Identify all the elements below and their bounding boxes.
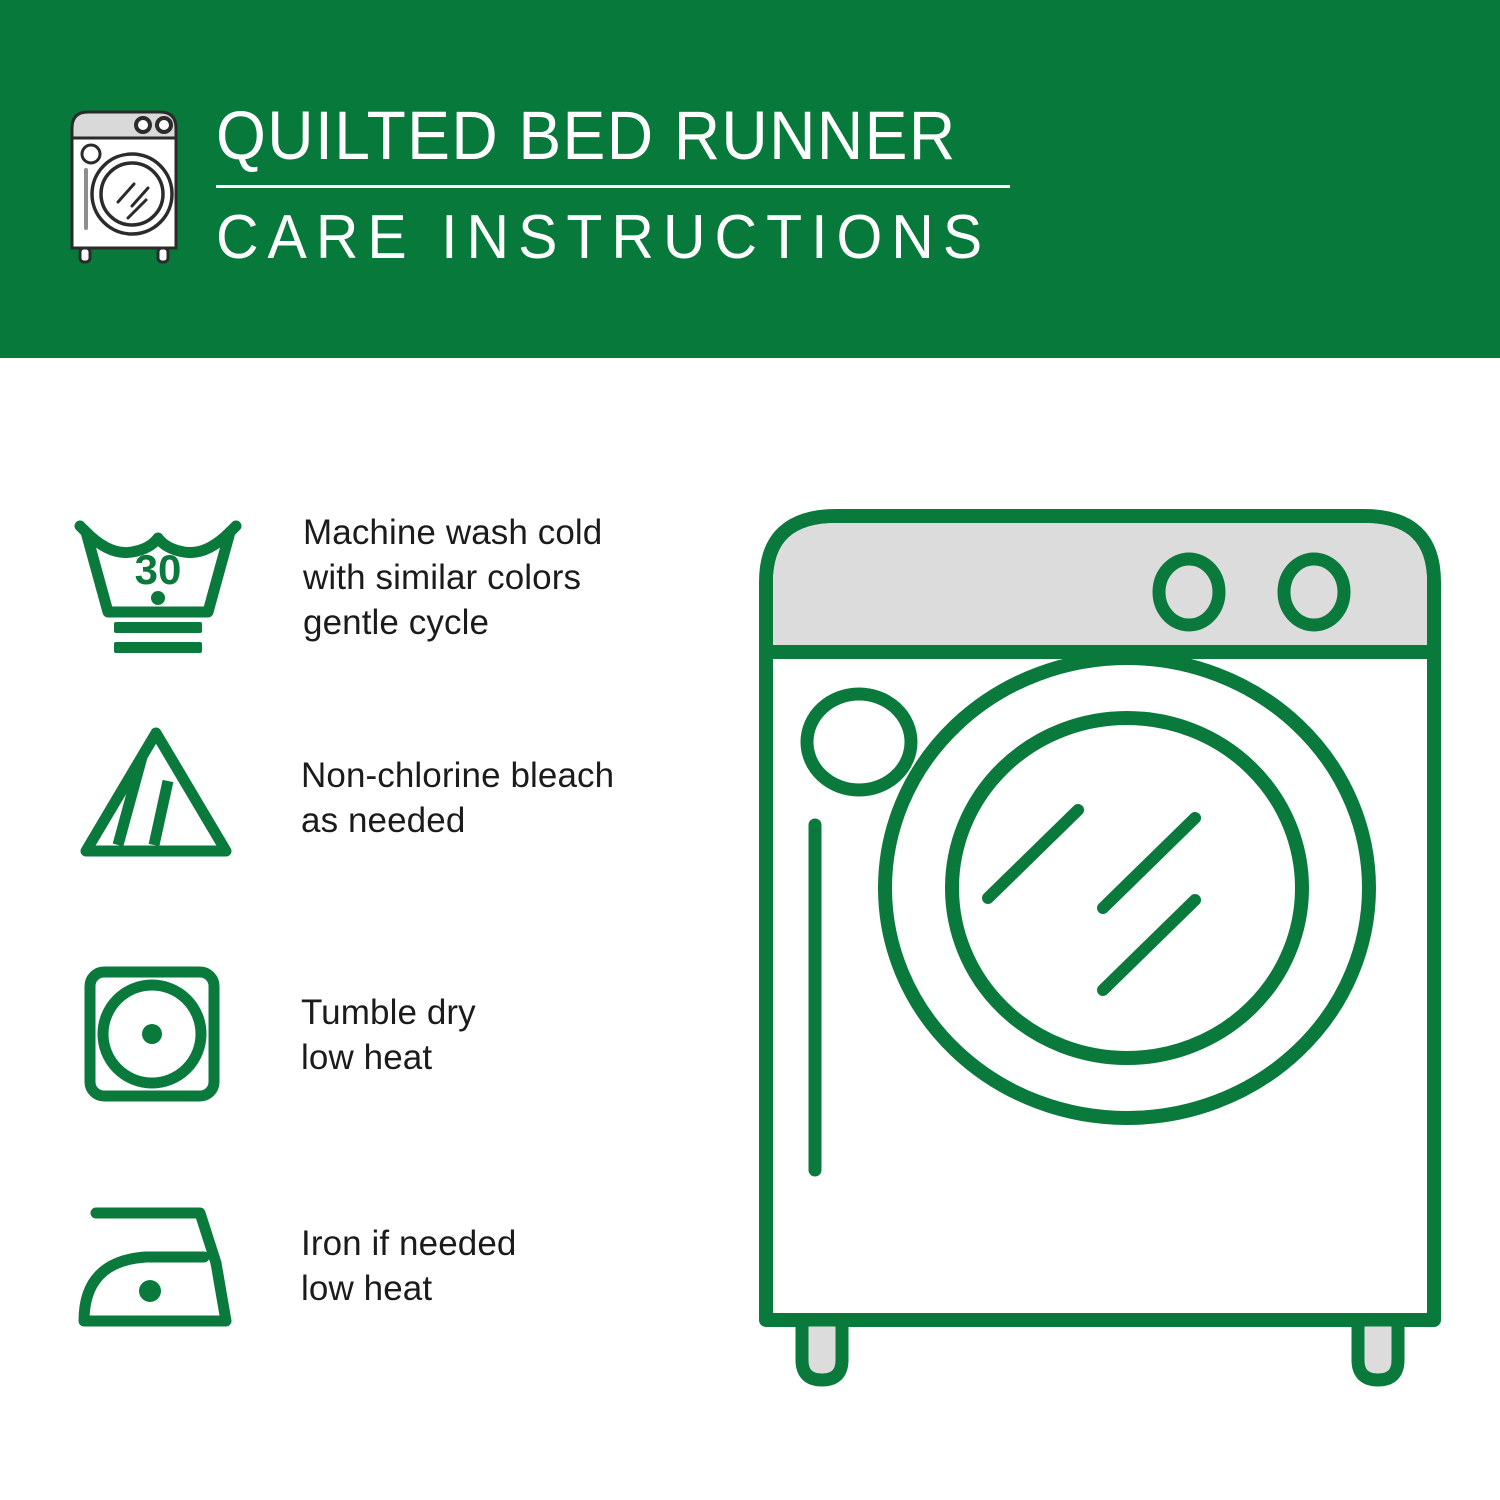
title-divider [216,185,1010,188]
care-text-iron: Iron if needed low heat [301,1221,516,1311]
header-band: QUILTED BED RUNNER CARE INSTRUCTIONS [0,0,1500,358]
care-instructions-page: QUILTED BED RUNNER CARE INSTRUCTIONS 30 … [0,0,1500,1500]
machine-leg-left [802,1320,842,1380]
machine-leg-right [1358,1320,1398,1380]
care-text-bleach: Non-chlorine bleach as needed [301,753,614,843]
knob-left-icon[interactable] [1159,559,1219,625]
care-row-iron: Iron if needed low heat [0,1173,700,1353]
dial-icon[interactable] [807,694,911,790]
washing-machine-illustration [740,480,1460,1410]
care-text-machine-wash: Machine wash cold with similar colors ge… [303,510,602,645]
care-row-tumble-dry: Tumble dry low heat [0,948,700,1128]
bleach-triangle-icon [76,723,236,863]
knob-right-icon[interactable] [1284,559,1344,625]
header-text-block: QUILTED BED RUNNER CARE INSTRUCTIONS [216,96,1026,274]
wash-tub-30-icon: 30 [72,516,244,658]
care-row-bleach: Non-chlorine bleach as needed [0,713,700,893]
iron-icon [74,1203,244,1331]
washing-machine-icon [64,106,192,266]
care-row-machine-wash: 30 Machine wash cold with similar colors… [0,498,700,698]
page-subtitle: CARE INSTRUCTIONS [216,202,986,274]
page-title: QUILTED BED RUNNER [216,96,969,176]
care-text-tumble-dry: Tumble dry low heat [301,990,476,1080]
wash-temperature-label: 30 [135,546,182,593]
tumble-dry-icon [82,964,222,1104]
care-instructions-list: 30 Machine wash cold with similar colors… [0,358,700,1500]
